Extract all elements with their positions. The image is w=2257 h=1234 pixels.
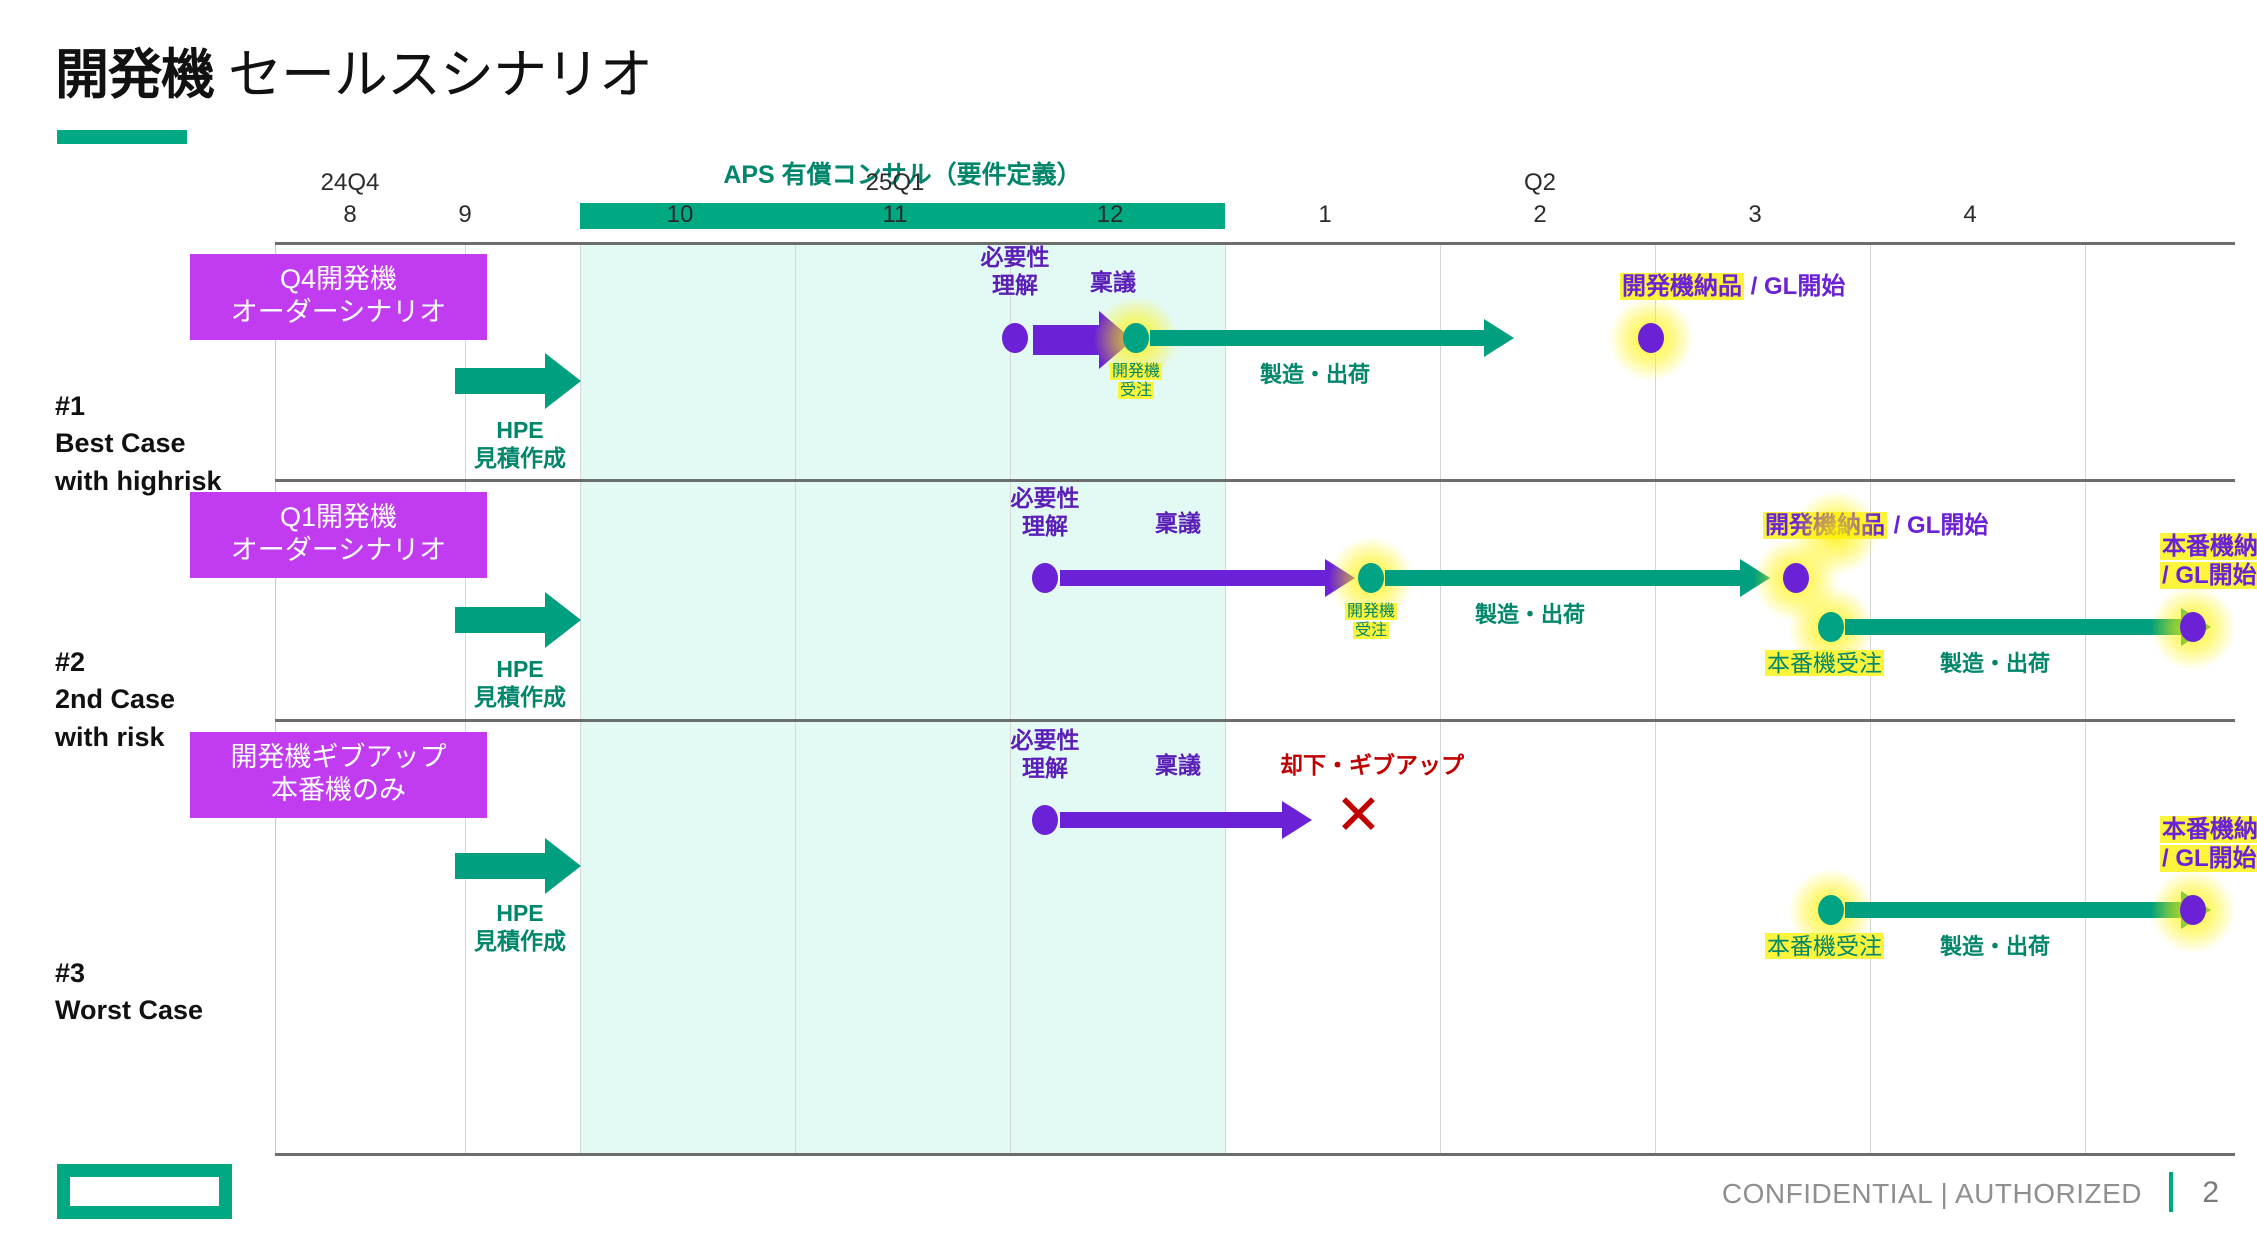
page-title-rest: セールスシナリオ <box>214 45 652 105</box>
row3-prod-order-label: 本番機受注 <box>1765 933 1884 961</box>
grid-line-4 <box>1010 245 1011 1155</box>
row3-need-label: 必要性 理解 <box>975 727 1115 782</box>
scenario-box-row2[interactable]: Q1開発機 オーダーシナリオ <box>190 492 487 578</box>
row2-prod-delivery-label: 本番機納品 / GL開始 <box>2160 533 2257 591</box>
scenario-box-row1-line1: Q4開発機 <box>194 263 483 296</box>
scenario-box-row3-line1: 開発機ギブアップ <box>194 741 483 774</box>
axis-rule-bottom <box>275 1153 2235 1156</box>
row1-order-line2: 受注 <box>1118 382 1154 399</box>
row1-need-label: 必要性 理解 <box>945 244 1085 299</box>
row3-ringi-label: 稟議 <box>1155 752 1201 780</box>
grid-line-3 <box>795 245 796 1155</box>
scenario-box-row2-line2: オーダーシナリオ <box>194 534 483 567</box>
grid-line-9 <box>2085 245 2086 1155</box>
row2-need-label: 必要性 理解 <box>975 485 1115 540</box>
row3-need-line2: 理解 <box>975 755 1115 783</box>
row3-prod-delivery-dot <box>2180 895 2206 925</box>
reject-x-icon: ✕ <box>1335 787 1382 843</box>
month-label-9: 9 <box>365 201 565 229</box>
footer-page-number: 2 <box>2202 1176 2219 1210</box>
row2-hpe-line1: HPE <box>440 656 600 684</box>
row1-delivery-label: 開発機納品 / GL開始 <box>1620 273 1845 302</box>
grid-line-6 <box>1440 245 1441 1155</box>
row1-need-line1: 必要性 <box>945 244 1085 272</box>
row1-order-line1: 開発機 <box>1110 363 1162 380</box>
row-caption-3-line1: #3 <box>55 955 203 992</box>
row2-prod-delivery-rest: / GL開始 <box>2160 562 2257 589</box>
row2-prod-order-text: 本番機受注 <box>1765 650 1884 676</box>
scenario-box-row2-line1: Q1開発機 <box>194 501 483 534</box>
row2-prod-delivery-hl: 本番機納品 <box>2160 533 2257 560</box>
row3-hpe-line1: HPE <box>440 900 600 928</box>
quarter-label-q2: Q2 <box>1440 169 1640 197</box>
timeline-chart: APS 有償コンサル（要件定義） 24Q4 25Q1 Q2 8 9 10 11 … <box>275 245 2235 1155</box>
row1-manufacture-label: 製造・出荷 <box>1260 362 1370 388</box>
row3-prod-delivery-hl: 本番機納品 <box>2160 816 2257 843</box>
row2-delivery-rest: / GL開始 <box>1887 512 1988 539</box>
month-label-1: 1 <box>1225 201 1425 229</box>
grid-line-5 <box>1225 245 1226 1155</box>
row1-hpe-line2: 見積作成 <box>440 445 600 473</box>
row1-need-dot <box>1002 323 1028 353</box>
scenario-box-row3-line2: 本番機のみ <box>194 774 483 807</box>
row-caption-1-line3: with highrisk <box>55 463 222 500</box>
month-label-11: 11 <box>795 201 995 229</box>
row2-prod-manufacture-label: 製造・出荷 <box>1940 651 2050 677</box>
quarter-label-25q1: 25Q1 <box>795 169 995 197</box>
grid-line-0 <box>275 245 276 1155</box>
row2-prod-order-dot <box>1818 612 1844 642</box>
row3-hpe-quote-label: HPE 見積作成 <box>440 900 600 955</box>
month-label-4: 4 <box>1870 201 2070 229</box>
footer-separator <box>2169 1172 2173 1212</box>
row3-prod-delivery-label: 本番機納品 / GL開始 <box>2160 816 2257 874</box>
row-caption-2-line3: with risk <box>55 719 175 756</box>
row2-need-line1: 必要性 <box>975 485 1115 513</box>
row1-order-label: 開発機 受注 <box>1070 362 1202 400</box>
row3-prod-order-dot <box>1818 895 1844 925</box>
row3-reject-label: 却下・ギブアップ <box>1280 752 1464 780</box>
row1-delivery-hl: 開発機納品 <box>1620 273 1744 300</box>
row1-delivery-rest: / GL開始 <box>1744 273 1845 300</box>
row3-prod-manufacture-label: 製造・出荷 <box>1940 934 2050 960</box>
row1-ringi-label: 稟議 <box>1090 269 1136 297</box>
row-caption-1-line1: #1 <box>55 388 222 425</box>
row1-hpe-line1: HPE <box>440 417 600 445</box>
month-label-3: 3 <box>1655 201 1855 229</box>
footer-classification: CONFIDENTIAL | AUTHORIZED <box>1722 1178 2142 1210</box>
scenario-box-row1[interactable]: Q4開発機 オーダーシナリオ <box>190 254 487 340</box>
row-caption-3-line2: Worst Case <box>55 992 203 1029</box>
row-caption-1: #1 Best Case with highrisk <box>55 388 222 500</box>
row-caption-3: #3 Worst Case <box>55 955 203 1030</box>
axis-rule-top <box>275 242 2235 245</box>
month-label-10: 10 <box>580 201 780 229</box>
quarter-label-24q4: 24Q4 <box>250 169 450 197</box>
row3-need-dot <box>1032 805 1058 835</box>
row2-need-line2: 理解 <box>975 513 1115 541</box>
row2-prod-order-label: 本番機受注 <box>1765 650 1884 678</box>
title-underline-rule <box>57 130 187 144</box>
row2-prod-delivery-dot <box>2180 612 2206 642</box>
row-caption-2-line1: #2 <box>55 644 175 681</box>
hpe-logo <box>57 1164 232 1219</box>
row1-delivery-dot <box>1638 323 1664 353</box>
month-label-2: 2 <box>1440 201 1640 229</box>
aps-consult-label-lat: APS <box>723 161 781 189</box>
row2-order-dot <box>1358 563 1384 593</box>
row3-need-line1: 必要性 <box>975 727 1115 755</box>
row2-need-dot <box>1032 563 1058 593</box>
row-caption-1-line2: Best Case <box>55 425 222 462</box>
row2-prod-order-glow-hidden <box>1793 490 1879 576</box>
row3-hpe-line2: 見積作成 <box>440 928 600 956</box>
row2-delivery-dot <box>1783 563 1809 593</box>
page-title: 開発機 セールスシナリオ <box>55 30 652 109</box>
row2-manufacture-label: 製造・出荷 <box>1475 602 1585 628</box>
row2-ringi-label: 稟議 <box>1155 510 1201 538</box>
row1-order-dot <box>1123 323 1149 353</box>
row3-prod-order-text: 本番機受注 <box>1765 933 1884 959</box>
row2-order-label: 開発機 受注 <box>1305 602 1437 640</box>
grid-line-8 <box>1870 245 1871 1155</box>
row3-prod-delivery-rest: / GL開始 <box>2160 845 2257 872</box>
row-caption-2-line2: 2nd Case <box>55 681 175 718</box>
row-caption-2: #2 2nd Case with risk <box>55 644 175 756</box>
row2-order-line2: 受注 <box>1353 622 1389 639</box>
row1-need-line2: 理解 <box>945 272 1085 300</box>
row2-hpe-quote-label: HPE 見積作成 <box>440 656 600 711</box>
scenario-box-row3[interactable]: 開発機ギブアップ 本番機のみ <box>190 732 487 818</box>
row-rule-1 <box>275 479 2235 482</box>
row2-hpe-line2: 見積作成 <box>440 684 600 712</box>
row2-order-line1: 開発機 <box>1345 603 1397 620</box>
row1-hpe-quote-label: HPE 見積作成 <box>440 417 600 472</box>
month-label-12: 12 <box>1010 201 1210 229</box>
row-rule-2 <box>275 719 2235 722</box>
page-title-strong: 開発機 <box>55 45 214 105</box>
scenario-box-row1-line2: オーダーシナリオ <box>194 296 483 329</box>
